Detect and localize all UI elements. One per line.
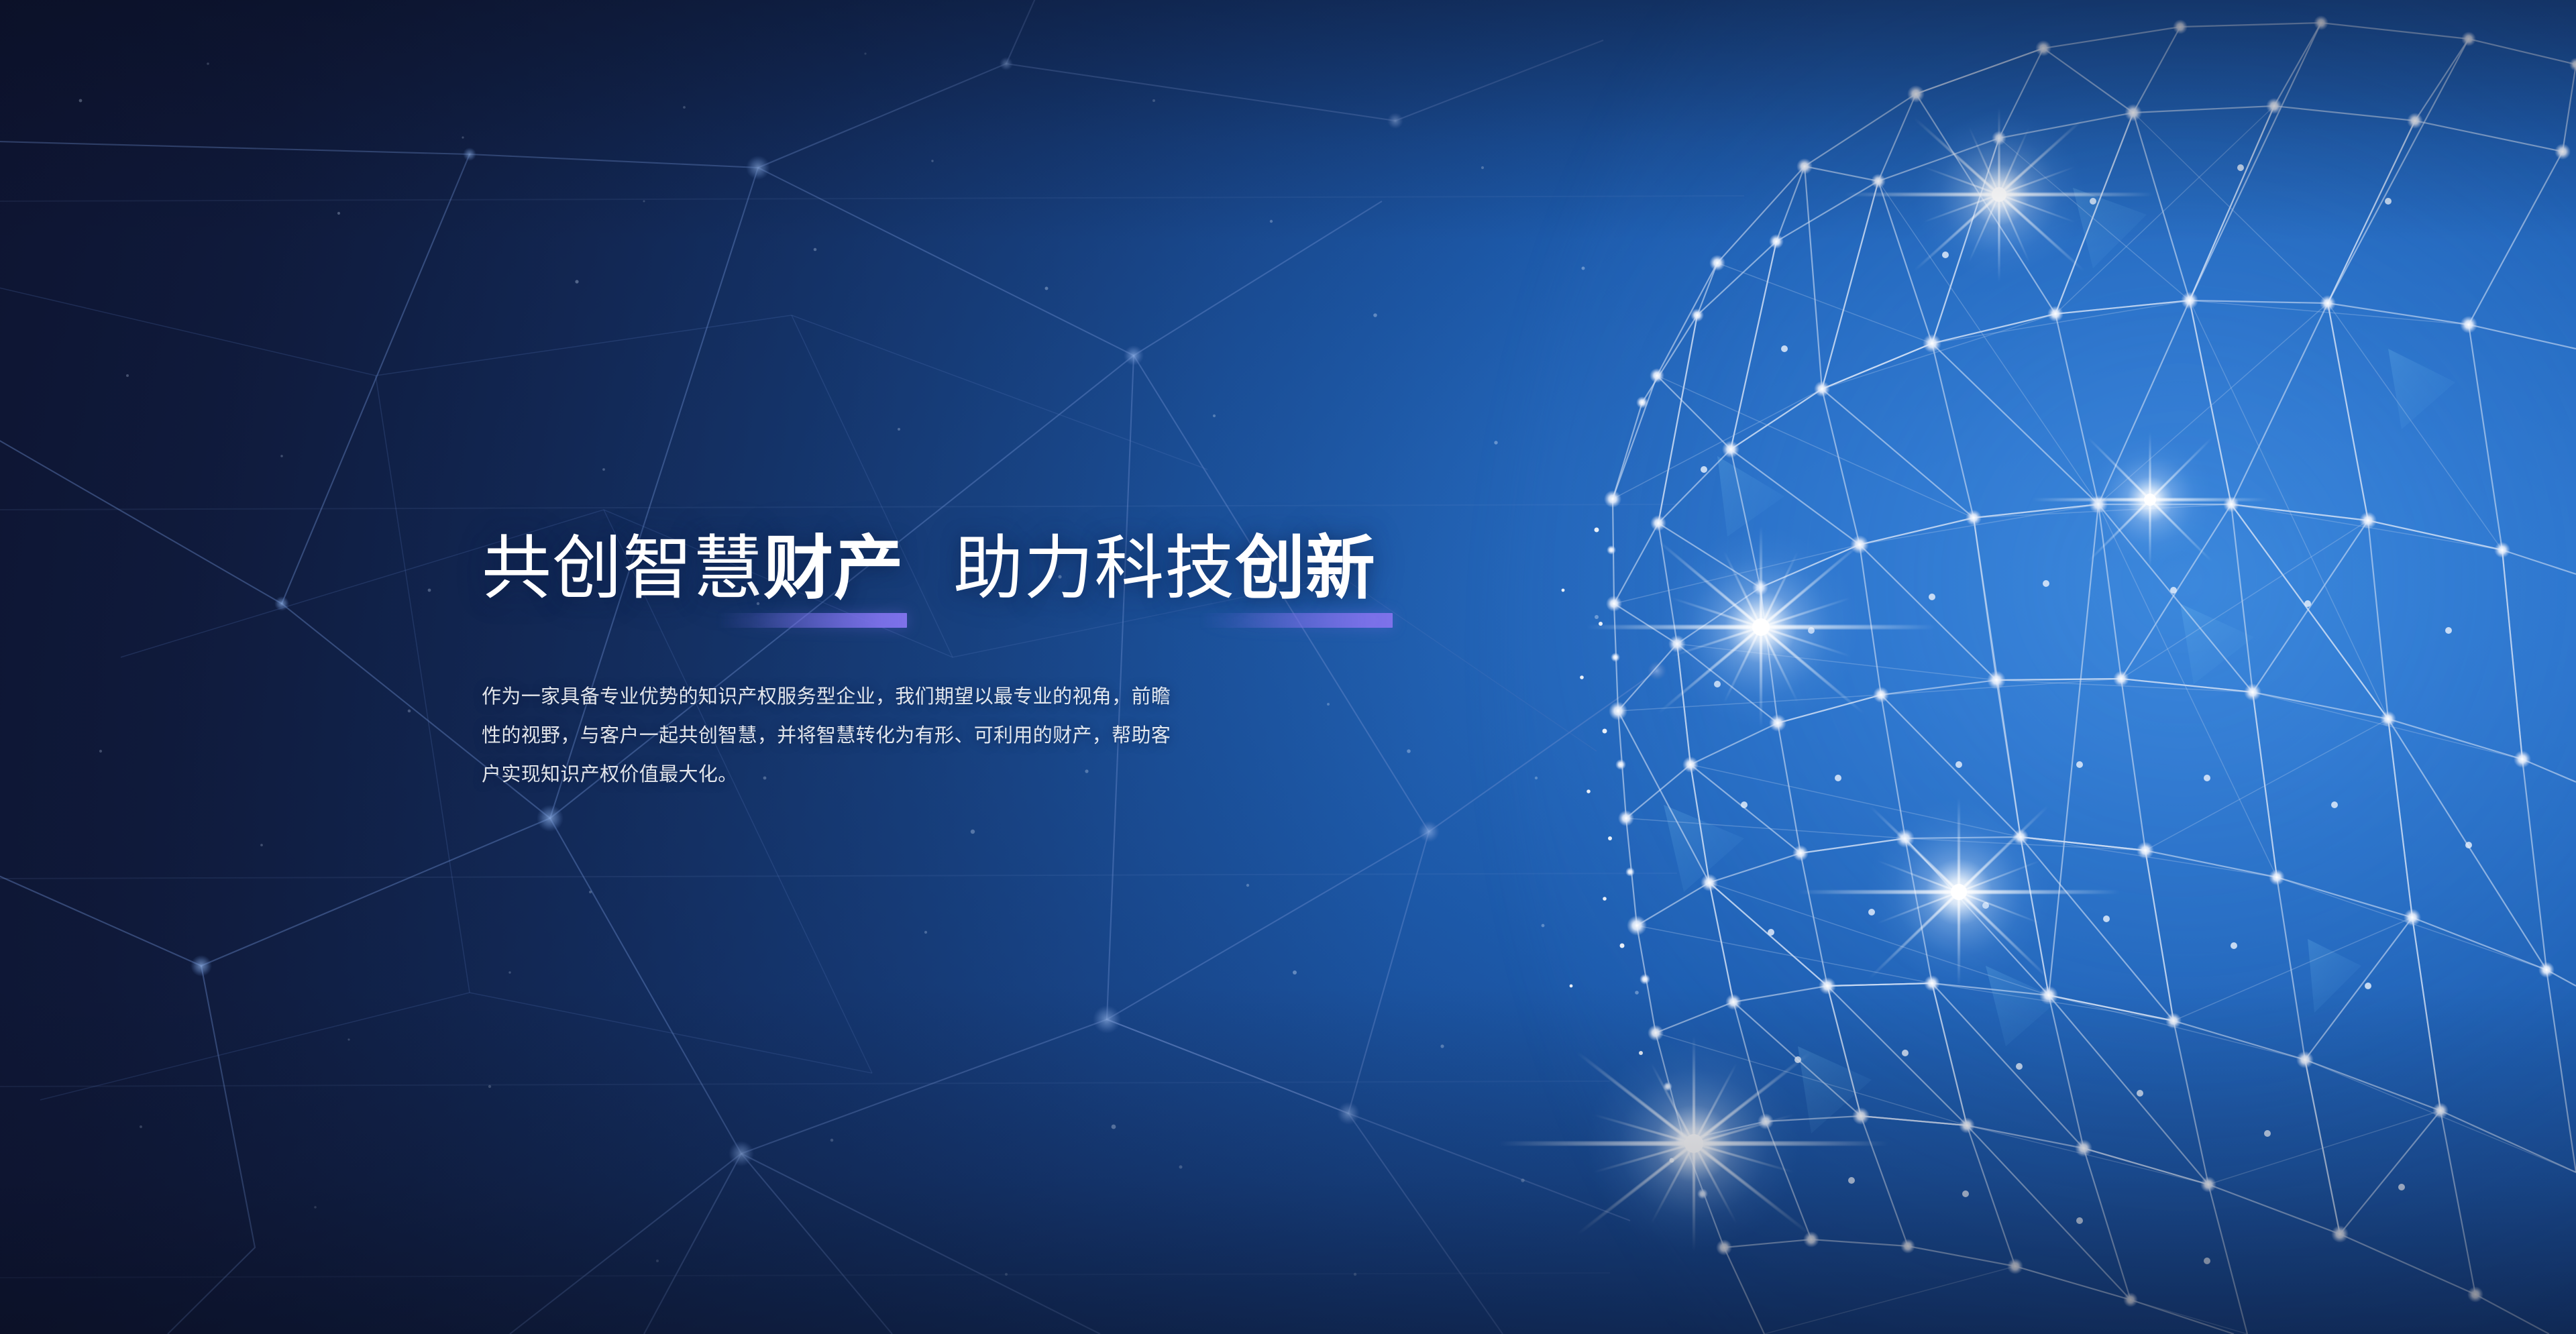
body-line-3: 户实现知识产权价值最大化。 — [482, 755, 1434, 794]
banner-stage: 共创智慧财产助力科技创新 作为一家具备专业优势的知识产权服务型企业，我们期望以最… — [0, 0, 2576, 1334]
underline-chuangxin — [1201, 613, 1393, 628]
accent-underlines — [482, 613, 1421, 628]
headline-emphasis-1: 财产 — [763, 530, 904, 608]
banner-content: 共创智慧财产助力科技创新 作为一家具备专业优势的知识产权服务型企业，我们期望以最… — [482, 530, 1488, 794]
body-line-2: 性的视野，与客户一起共创智慧，并将智慧转化为有形、可利用的财产，帮助客 — [482, 716, 1434, 755]
headline-emphasis-2: 创新 — [1235, 530, 1375, 608]
page-title: 共创智慧财产助力科技创新 — [482, 530, 1488, 608]
headline-part-2: 助力科技 — [953, 530, 1235, 608]
underline-caichan — [718, 613, 907, 628]
headline-part-1: 共创智慧 — [482, 530, 763, 608]
banner-description: 作为一家具备专业优势的知识产权服务型企业，我们期望以最专业的视角，前瞻 性的视野… — [482, 677, 1434, 794]
body-line-1: 作为一家具备专业优势的知识产权服务型企业，我们期望以最专业的视角，前瞻 — [482, 677, 1434, 716]
